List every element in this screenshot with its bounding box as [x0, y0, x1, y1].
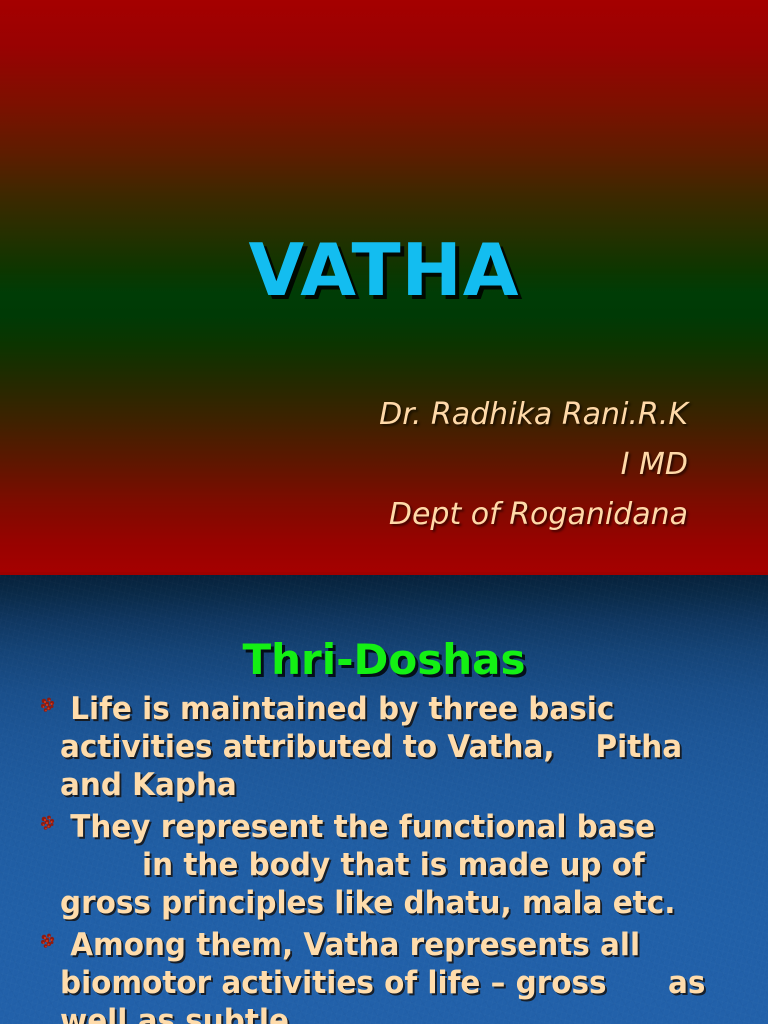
bullet-text: Life is maintained by three basic activi…	[60, 690, 714, 804]
content-slide-heading: Thri-Doshas	[0, 639, 768, 681]
floral-bullet-icon	[36, 812, 60, 846]
slides-page: VATHA Dr. Radhika Rani.R.K I MD Dept of …	[0, 0, 768, 1024]
list-item: They represent the functional base in th…	[36, 808, 748, 922]
author-block: Dr. Radhika Rani.R.K I MD Dept of Rogani…	[88, 390, 688, 540]
bullet-list: Life is maintained by three basic activi…	[36, 690, 748, 1024]
author-department: Dept of Roganidana	[88, 490, 688, 540]
presentation-title: VATHA	[0, 234, 768, 306]
floral-bullet-icon	[36, 930, 60, 964]
bullet-text: They represent the functional base in th…	[60, 808, 714, 922]
list-item: Life is maintained by three basic activi…	[36, 690, 748, 804]
floral-bullet-icon	[36, 694, 60, 728]
title-slide: VATHA Dr. Radhika Rani.R.K I MD Dept of …	[0, 0, 768, 575]
author-name: Dr. Radhika Rani.R.K	[88, 390, 688, 440]
author-qualification: I MD	[88, 440, 688, 490]
bullet-text: Among them, Vatha represents all biomoto…	[60, 926, 714, 1024]
list-item: Among them, Vatha represents all biomoto…	[36, 926, 748, 1024]
